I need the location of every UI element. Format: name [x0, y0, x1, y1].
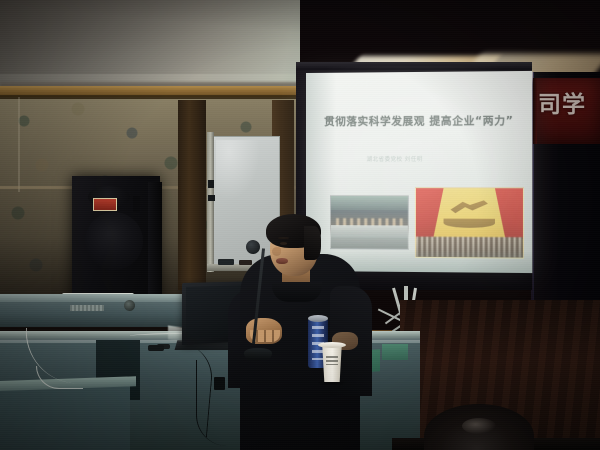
presenter-collar: [272, 282, 322, 302]
microphone-head-icon[interactable]: [246, 240, 260, 254]
whiteboard-marker-second: [239, 260, 252, 265]
presenter-hair-side: [304, 226, 321, 260]
projector-vent-grille: [70, 305, 104, 311]
slide-subtitle: 湖北省委党校 刘任明: [314, 156, 476, 164]
ceiling-shadow: [0, 0, 330, 74]
presenter-nose: [272, 247, 281, 256]
slide-photo-right: [415, 187, 524, 259]
pa-loudspeaker-side-panel: [148, 182, 162, 304]
slide-photo-left-table: [331, 225, 408, 237]
green-table-cloth-secondary: [382, 344, 408, 360]
slide-photo-left: [330, 195, 409, 250]
projector-lens-icon: [124, 300, 135, 311]
whiteboard-clip-icon-lower: [208, 195, 215, 201]
microphone-base: [244, 348, 272, 360]
slide-photo-right-flag-right: [495, 188, 523, 239]
front-left-table: [0, 386, 130, 450]
pa-bass-port: [133, 196, 140, 212]
banner-text: 司学: [538, 92, 600, 118]
cable-connector-block: [214, 377, 225, 390]
beverage-can-top: [308, 315, 328, 322]
photograph-scene: 司学 贯彻落实科学发展观 提高企业“两力” 湖北省委党校 刘任明: [0, 0, 600, 450]
pa-woofer-cone: [85, 212, 143, 270]
audience-hair-highlight: [462, 418, 496, 434]
whiteboard-marker: [218, 259, 234, 265]
pa-brand-label: [93, 198, 117, 211]
wall-panel-seam: [18, 97, 20, 192]
small-black-object-on-table: [148, 345, 164, 351]
slide-photo-left-backdrop: [331, 196, 408, 210]
emblem-base-icon: [444, 218, 495, 228]
slide-photo-right-flag-left: [416, 188, 444, 239]
paper-cup-rim: [318, 342, 346, 348]
paper-cup-logo: [326, 356, 338, 365]
whiteboard-frame: [207, 132, 214, 272]
presenter-eyebrow: [278, 237, 289, 239]
presenter-mouth: [276, 258, 288, 264]
presenter-eye: [280, 242, 287, 245]
dark-wood-column: [178, 100, 206, 290]
hammer-sickle-emblem-icon: [449, 199, 490, 217]
slide-title: 贯彻落实科学发展观 提高企业“两力”: [314, 115, 524, 129]
projection-screen: 贯彻落实科学发展观 提高企业“两力” 湖北省委党校 刘任明: [306, 71, 532, 273]
whiteboard-glare: [216, 140, 260, 200]
banner-left-edge: [533, 78, 537, 144]
whiteboard-clip-icon: [208, 180, 214, 188]
projection-screen-top-bar: [296, 62, 532, 70]
